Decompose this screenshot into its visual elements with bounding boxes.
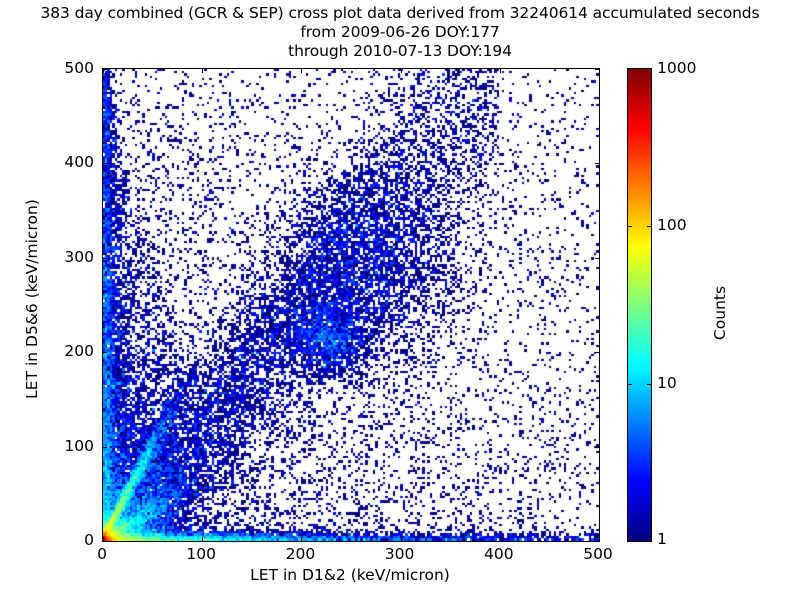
y-axis-tick-right <box>595 541 599 542</box>
colorbar-tick <box>628 384 632 385</box>
colorbar <box>627 68 652 542</box>
x-axis-tick <box>103 537 104 541</box>
y-axis-tick-label: 100 <box>64 437 94 455</box>
x-axis-tick-top <box>599 69 600 73</box>
x-axis-tick <box>599 537 600 541</box>
colorbar-tick-right <box>647 226 651 227</box>
x-axis-tick <box>202 537 203 541</box>
y-axis-tick-labels: 0100200300400500 <box>0 0 102 600</box>
x-axis-tick-top <box>500 69 501 73</box>
chart-title-line-1: 383 day combined (GCR & SEP) cross plot … <box>0 4 800 23</box>
colorbar-tick-label: 100 <box>657 216 687 234</box>
x-axis-tick-label: 400 <box>484 545 514 563</box>
x-axis-tick-top <box>401 69 402 73</box>
x-axis-tick <box>301 537 302 541</box>
y-axis-tick-label: 0 <box>84 531 94 549</box>
y-axis-tick <box>103 163 107 164</box>
colorbar-tick-label: 1000 <box>657 59 696 77</box>
colorbar-title: Counts <box>711 193 729 433</box>
x-axis-title: LET in D1&2 (keV/micron) <box>102 566 598 584</box>
y-axis-tick-right <box>595 352 599 353</box>
y-axis-tick-label: 200 <box>64 342 94 360</box>
x-axis-tick-label: 0 <box>97 545 107 563</box>
x-axis-tick-label: 300 <box>385 545 415 563</box>
chart-title: 383 day combined (GCR & SEP) cross plot … <box>0 4 800 61</box>
x-axis-tick-label: 100 <box>186 545 216 563</box>
colorbar-gradient <box>628 69 651 541</box>
x-axis-tick-top <box>301 69 302 73</box>
x-axis-tick-top <box>202 69 203 73</box>
y-axis-tick-right <box>595 163 599 164</box>
x-axis-tick-label: 200 <box>286 545 316 563</box>
y-axis-tick-right <box>595 258 599 259</box>
y-axis-tick <box>103 541 107 542</box>
chart-title-line-2: from 2009-06-26 DOY:177 <box>0 23 800 42</box>
colorbar-tick-label: 10 <box>657 374 677 392</box>
x-axis-tick <box>500 537 501 541</box>
colorbar-tick-right <box>647 384 651 385</box>
y-axis-tick-right <box>595 447 599 448</box>
colorbar-tick-label: 1 <box>657 530 667 548</box>
y-axis-tick <box>103 447 107 448</box>
x-axis-tick <box>401 537 402 541</box>
y-axis-tick <box>103 352 107 353</box>
colorbar-tick <box>628 226 632 227</box>
x-axis-tick-top <box>103 69 104 73</box>
figure-canvas: 383 day combined (GCR & SEP) cross plot … <box>0 0 800 600</box>
y-axis-tick-label: 300 <box>64 248 94 266</box>
plot-area <box>102 68 600 542</box>
y-axis-title: LET in D5&6 (keV/micron) <box>23 129 41 469</box>
y-axis-tick-label: 400 <box>64 153 94 171</box>
x-axis-tick-label: 500 <box>583 545 613 563</box>
y-axis-tick-label: 500 <box>64 59 94 77</box>
scatter-heatmap <box>103 69 599 541</box>
y-axis-tick <box>103 258 107 259</box>
